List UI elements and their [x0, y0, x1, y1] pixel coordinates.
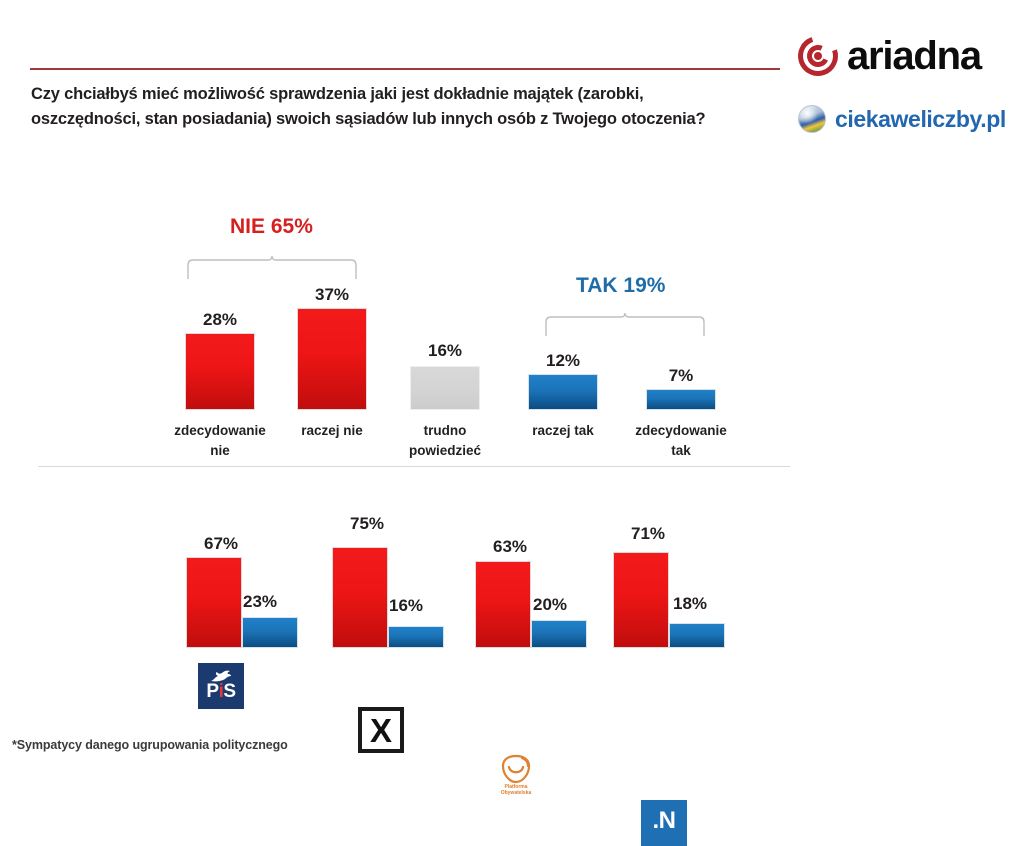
pis-logo: PiS — [198, 663, 244, 709]
value-label-pis-tak: 23% — [220, 592, 300, 612]
kukiz-logo-text: X — [365, 712, 397, 748]
value-label-kukiz-tak: 16% — [366, 596, 446, 616]
bar-po-tak — [531, 620, 587, 648]
bar-kukiz-tak — [388, 626, 444, 648]
value-label-kukiz-nie: 75% — [327, 514, 407, 534]
pis-logo-text: PiS — [198, 682, 244, 701]
po-logo-text-line2: Obywatelska — [493, 791, 539, 797]
bar-nowoczesna-tak — [669, 623, 725, 648]
bottom-bar-chart: 67% 23% PiS 75% 16% X 63% 20% Platforma … — [0, 0, 1024, 730]
footnote: *Sympatycy danego ugrupowania polityczne… — [12, 738, 288, 752]
value-label-nowoczesna-nie: 71% — [608, 524, 688, 544]
po-heart-icon — [500, 754, 532, 784]
value-label-po-tak: 20% — [510, 595, 590, 615]
nowoczesna-logo-text: .N — [641, 809, 687, 833]
kukiz-logo: X — [358, 707, 404, 753]
po-logo-text: Platforma Obywatelska — [493, 785, 539, 797]
po-logo: Platforma Obywatelska — [493, 753, 539, 799]
nowoczesna-logo: .N — [641, 800, 687, 846]
value-label-pis-nie: 67% — [181, 534, 261, 554]
value-label-po-nie: 63% — [470, 537, 550, 557]
value-label-nowoczesna-tak: 18% — [650, 594, 730, 614]
bar-pis-tak — [242, 617, 298, 648]
